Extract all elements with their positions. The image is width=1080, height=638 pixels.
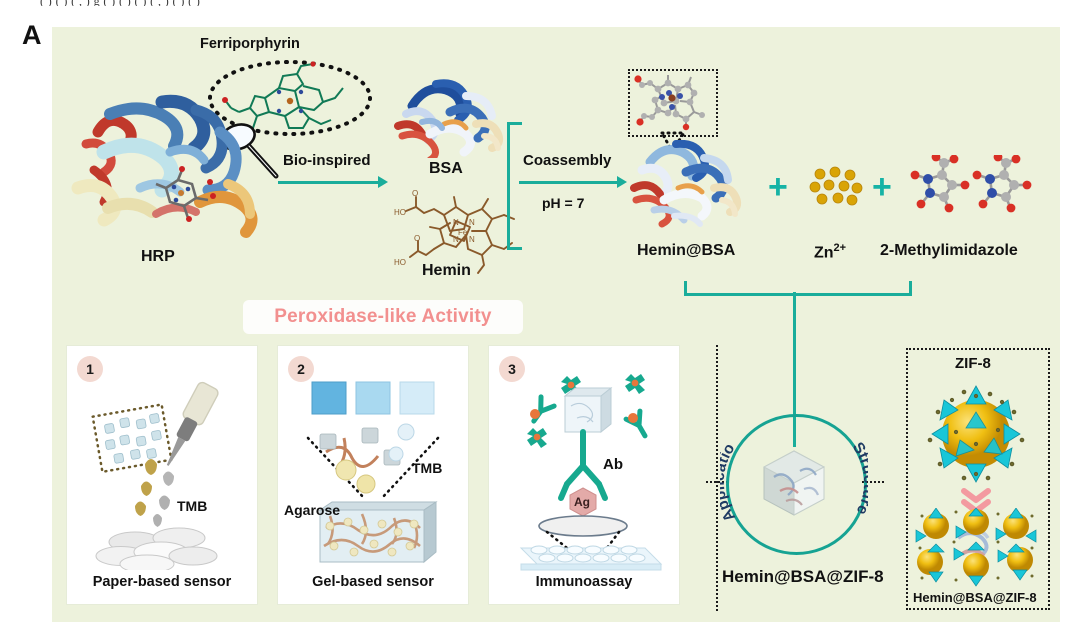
- peroxidase-activity-badge: Peroxidase-like Activity: [243, 300, 523, 334]
- coassembly-arrow: [519, 181, 619, 184]
- application-card-immunoassay[interactable]: 3: [488, 345, 680, 605]
- bio-inspired-arrow-head: [378, 176, 388, 188]
- svg-text:HO: HO: [394, 208, 406, 217]
- hub-caption: Hemin@BSA@ZIF-8: [722, 567, 884, 587]
- card-number-1: 1: [77, 356, 103, 382]
- ab-label: Ab: [603, 456, 623, 473]
- svg-text:Structure: Structure: [849, 439, 868, 517]
- figure-panel-a: ( ) ( ) ( , ) g ( ) ( ) ( ) ( , ) ( ) ( …: [0, 0, 1080, 638]
- plus-sign-1: +: [768, 170, 788, 204]
- bsa-label: BSA: [429, 160, 463, 178]
- page-title: A: [22, 20, 41, 51]
- zif8-label: ZIF-8: [955, 355, 991, 372]
- svg-text:O: O: [414, 234, 420, 243]
- svg-text:N: N: [453, 218, 459, 227]
- immunoassay-illustration: [495, 362, 675, 572]
- hemin-bsa-zif8-lattice: [914, 508, 1040, 588]
- structure-caption: Hemin@BSA@ZIF-8: [913, 590, 1037, 605]
- hemin-ball-stick-molecule: [628, 69, 714, 133]
- zinc-charge: 2+: [834, 242, 847, 254]
- ag-label: Ag: [574, 495, 590, 509]
- bio-inspired-label: Bio-inspired: [283, 152, 371, 169]
- svg-text:Fe: Fe: [458, 228, 468, 237]
- application-title-immunoassay: Immunoassay: [489, 574, 679, 590]
- zinc-label-text: Zn: [814, 244, 834, 261]
- application-card-paper[interactable]: 1: [66, 345, 258, 605]
- 2-methylimidazole-molecule: [908, 155, 1038, 217]
- zinc-label: Zn2+: [814, 242, 846, 262]
- zinc-ion-dots: [808, 166, 864, 208]
- svg-text:Application: Application: [720, 408, 739, 525]
- coassembly-arrow-head: [617, 176, 627, 188]
- application-card-gel[interactable]: 2: [277, 345, 469, 605]
- bio-inspired-arrow: [278, 181, 380, 184]
- paper-sensor-illustration: [75, 380, 251, 570]
- assembly-brace-bottom: [684, 281, 912, 296]
- plus-sign-2: +: [872, 170, 892, 204]
- application-title-gel: Gel-based sensor: [278, 574, 468, 590]
- hrp-label: HRP: [141, 248, 175, 266]
- hub-arc-labels: Application Structure: [720, 408, 868, 556]
- svg-text:HO: HO: [394, 258, 406, 267]
- methylimidazole-label: 2-Methylimidazole: [880, 242, 1018, 260]
- agarose-label: Agarose: [284, 502, 340, 518]
- ph-label: pH = 7: [542, 195, 584, 211]
- svg-text:O: O: [412, 189, 418, 198]
- hemin-bsa-label: Hemin@BSA: [637, 242, 735, 260]
- ferriporphyrin-label: Ferriporphyrin: [200, 36, 300, 52]
- zif8-particle: [916, 378, 1036, 490]
- hemin-label: Hemin: [422, 262, 471, 280]
- tmb-label-gel: TMB: [412, 460, 442, 476]
- coassembly-label: Coassembly: [523, 152, 611, 169]
- bsa-protein-structure: [392, 78, 512, 158]
- card-number-badge-1: 1: [77, 356, 103, 382]
- tmb-label-paper: TMB: [177, 498, 207, 514]
- hemin-bsa-structure: [628, 140, 748, 232]
- application-structure-divider: [716, 345, 718, 611]
- page-cut-text: ( ) ( ) ( , ) g ( ) ( ) ( ) ( , ) ( ) ( …: [40, 0, 1040, 6]
- peroxidase-activity-text: Peroxidase-like Activity: [243, 300, 523, 334]
- application-title-paper: Paper-based sensor: [67, 574, 257, 590]
- svg-text:N: N: [469, 235, 475, 244]
- hrp-protein-structure: [70, 92, 290, 242]
- coassembly-brace-left: [507, 122, 522, 250]
- svg-text:N: N: [469, 218, 475, 227]
